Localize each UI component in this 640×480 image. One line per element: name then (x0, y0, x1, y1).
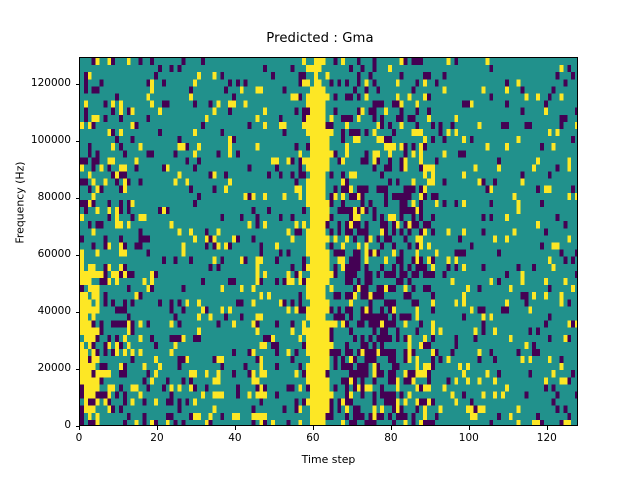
y-tick-label: 0 (0, 419, 71, 431)
y-axis-label: Frequency (Hz) (14, 123, 27, 283)
x-tick-mark (391, 426, 392, 430)
y-tick-label: 80000 (0, 191, 71, 203)
y-tick-mark (76, 255, 80, 256)
y-tick-mark (76, 426, 80, 427)
y-tick-mark (76, 84, 80, 85)
y-tick-mark (76, 198, 80, 199)
x-tick-label: 0 (44, 432, 114, 444)
y-tick-label: 60000 (0, 248, 71, 260)
x-tick-label: 80 (356, 432, 426, 444)
x-tick-mark (157, 426, 158, 430)
y-tick-mark (76, 141, 80, 142)
x-tick-label: 120 (512, 432, 582, 444)
x-tick-mark (469, 426, 470, 430)
x-tick-mark (313, 426, 314, 430)
y-tick-mark (76, 312, 80, 313)
y-tick-label: 20000 (0, 362, 71, 374)
y-tick-mark (76, 369, 80, 370)
x-tick-mark (79, 426, 80, 430)
x-axis-label: Time step (79, 453, 578, 466)
x-tick-mark (235, 426, 236, 430)
heatmap-image (80, 58, 578, 426)
y-tick-label: 40000 (0, 305, 71, 317)
figure-canvas: Predicted : Gma 020406080100120 02000040… (0, 0, 640, 480)
heatmap-axes (79, 57, 578, 426)
x-tick-label: 100 (434, 432, 504, 444)
x-tick-mark (547, 426, 548, 430)
y-tick-label: 120000 (0, 77, 71, 89)
x-tick-label: 20 (122, 432, 192, 444)
x-tick-label: 60 (278, 432, 348, 444)
y-tick-label: 100000 (0, 134, 71, 146)
chart-title: Predicted : Gma (0, 31, 640, 46)
x-tick-label: 40 (200, 432, 270, 444)
